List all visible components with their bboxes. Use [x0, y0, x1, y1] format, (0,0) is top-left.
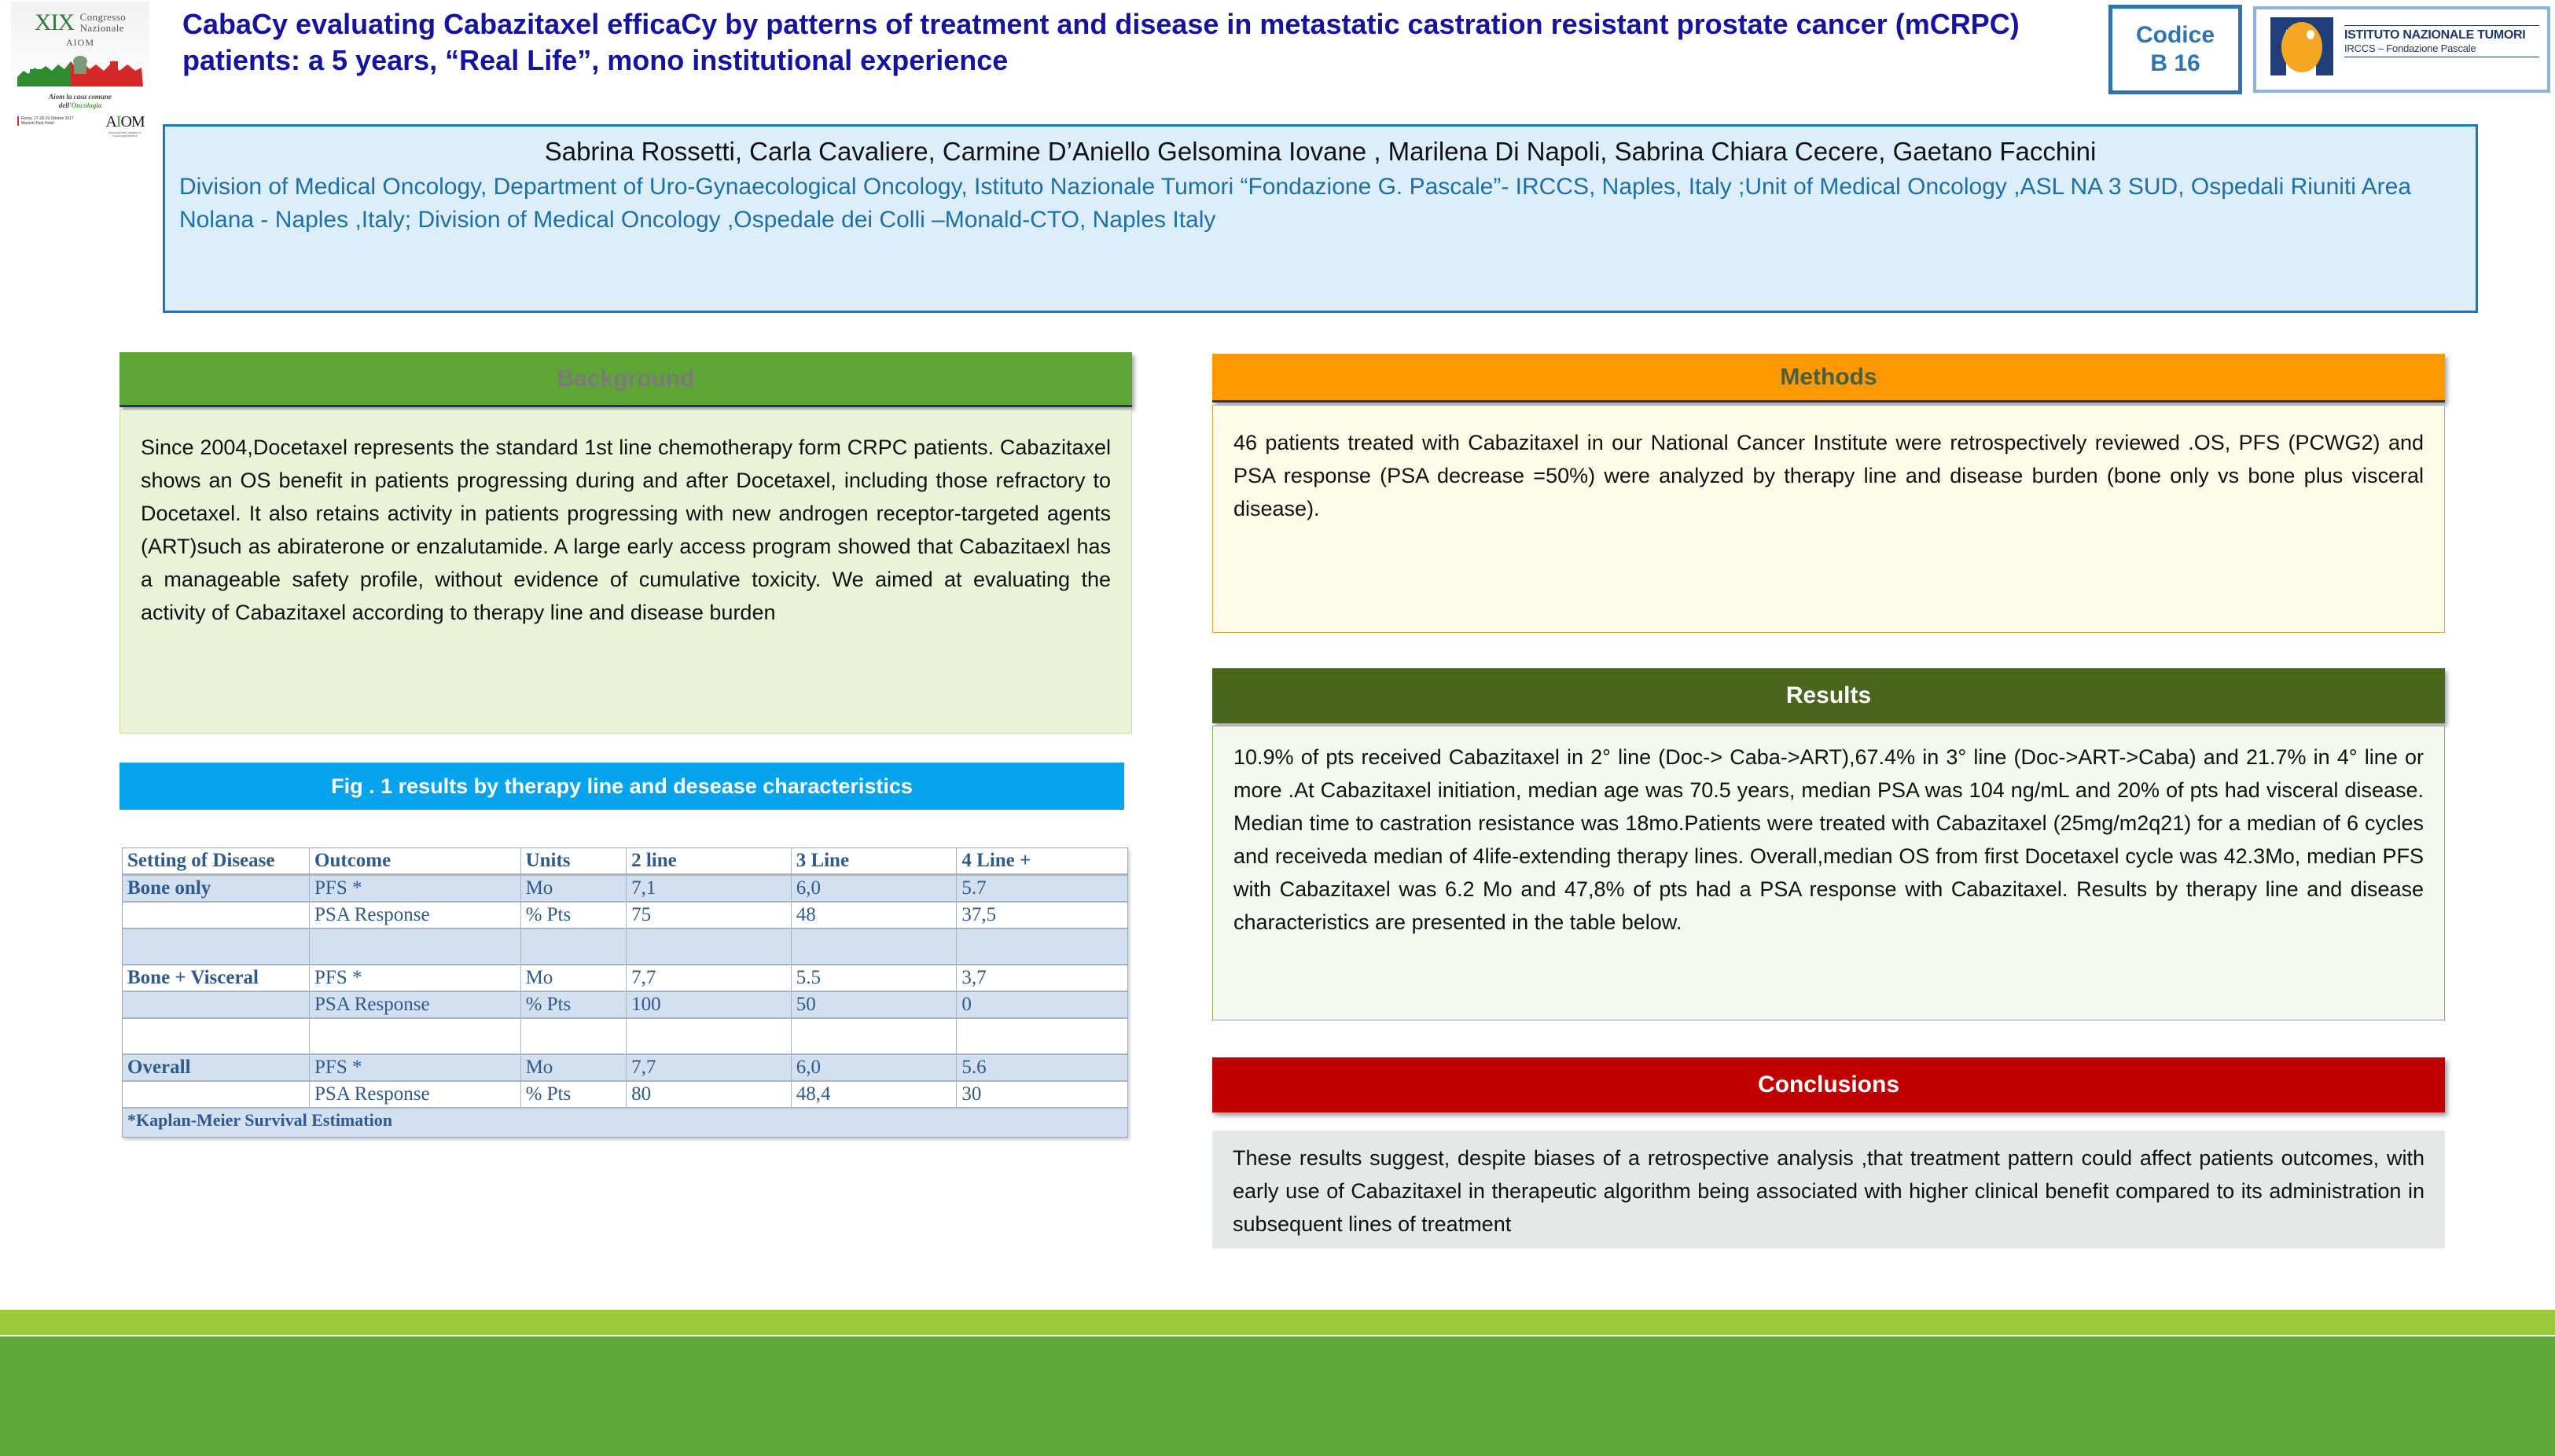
table-row: PSA Response% Pts100500: [123, 992, 1127, 1019]
affiliation-list: Division of Medical Oncology, Department…: [179, 171, 2461, 237]
aiom-tagline-line1: Aiom la casa comune: [11, 93, 149, 101]
table-header-cell: Units: [521, 848, 627, 876]
figure-caption-bar: Fig . 1 results by therapy line and dese…: [119, 763, 1124, 810]
table-cell: 37,5: [957, 903, 1127, 929]
codice-label: Codice: [2136, 21, 2215, 50]
table-cell: [521, 929, 627, 965]
codice-badge: Codice B 16: [2108, 5, 2242, 94]
table-cell: [627, 1019, 792, 1055]
figure-caption-text: Fig . 1 results by therapy line and dese…: [331, 774, 913, 799]
table-row: PSA Response% Pts8048,430: [123, 1082, 1127, 1109]
aiom-tagline: Aiom la casa comune dell'Oncologia: [11, 93, 149, 110]
section-body-results: 10.9% of pts received Cabazitaxel in 2° …: [1212, 726, 2445, 1020]
table-header-cell: Outcome: [310, 848, 521, 876]
section-header-conclusions: Conclusions: [1212, 1057, 2445, 1112]
table-spacer-row: [123, 1019, 1127, 1055]
results-table: Setting of DiseaseOutcomeUnits2 line3 Li…: [122, 847, 1128, 1138]
table-cell: 75: [627, 903, 792, 929]
table-cell: [310, 1019, 521, 1055]
section-body-conclusions: These results suggest, despite biases of…: [1212, 1131, 2445, 1248]
table-spacer-row: [123, 929, 1127, 965]
aiom-line-aiom: AIOM: [11, 37, 149, 49]
page-title: CabaCy evaluating Cabazitaxel efficaCy b…: [182, 6, 2069, 79]
aiom-congress-logo: XIX Congresso Nazionale AIOM Aiom la cas…: [11, 2, 149, 178]
aiom-mark-subtitle: Associazione Italiana di Oncologia Medic…: [104, 131, 146, 138]
table-footnote-row: *Kaplan-Meier Survival Estimation: [123, 1109, 1127, 1137]
poster-header: XIX Congresso Nazionale AIOM Aiom la cas…: [0, 0, 2555, 118]
section-title-methods: Methods: [1780, 364, 1877, 391]
table-cell: 3,7: [957, 965, 1127, 992]
table-cell: 80: [627, 1082, 792, 1109]
aiom-association-mark: AIOM Associazione Italiana di Oncologia …: [104, 113, 146, 138]
aiom-line-congresso: Congresso: [80, 12, 127, 23]
table-cell: 5.6: [957, 1055, 1127, 1082]
table-cell: Overall: [123, 1055, 310, 1082]
table-cell: [123, 1019, 310, 1055]
table-cell: [792, 1019, 958, 1055]
section-header-background: Background: [119, 352, 1132, 407]
table-cell: 48,4: [792, 1082, 958, 1109]
footer-band-lime: [0, 1310, 2555, 1335]
table-cell: Mo: [521, 965, 627, 992]
table-cell: Bone + Visceral: [123, 965, 310, 992]
table-cell: [123, 1082, 310, 1109]
table-cell: [310, 929, 521, 965]
section-body-background: Since 2004,Docetaxel represents the stan…: [119, 410, 1132, 734]
table-cell: PFS *: [310, 876, 521, 903]
table-cell: % Pts: [521, 903, 627, 929]
footer-band-green: [0, 1337, 2555, 1456]
pascale-line-2: IRCCS – Fondazione Pascale: [2344, 42, 2539, 57]
section-header-methods: Methods: [1212, 354, 2445, 403]
table-row: Bone onlyPFS *Mo7,16,05.7: [123, 876, 1127, 903]
table-header-cell: Setting of Disease: [123, 848, 310, 876]
table-cell: % Pts: [521, 992, 627, 1019]
codice-value: B 16: [2150, 50, 2200, 78]
istituto-nazionale-tumori-logo: ISTITUTO NAZIONALE TUMORI IRCCS – Fondaz…: [2253, 6, 2550, 93]
table-footnote: *Kaplan-Meier Survival Estimation: [123, 1109, 1127, 1137]
section-title-background: Background: [557, 366, 694, 392]
table-cell: PFS *: [310, 1055, 521, 1082]
table-cell: 6,0: [792, 876, 958, 903]
table-cell: [957, 929, 1127, 965]
aiom-event-details: Roma, 27-28-29 Ottobre 2017 Marriott Par…: [17, 116, 108, 126]
section-title-results: Results: [1786, 682, 1871, 709]
table-cell: % Pts: [521, 1082, 627, 1109]
table-cell: PSA Response: [310, 1082, 521, 1109]
aiom-wordmark: XIX Congresso Nazionale AIOM: [11, 9, 149, 49]
table-cell: [627, 929, 792, 965]
pascale-line-1: ISTITUTO NAZIONALE TUMORI: [2344, 25, 2539, 42]
table-cell: PSA Response: [310, 903, 521, 929]
table-cell: Mo: [521, 1055, 627, 1082]
table-cell: 5.7: [957, 876, 1127, 903]
table-cell: [123, 929, 310, 965]
section-body-methods: 46 patients treated with Cabazitaxel in …: [1212, 405, 2445, 633]
pascale-emblem-icon: [2266, 14, 2338, 79]
table-cell: [792, 929, 958, 965]
table-cell: 7,7: [627, 965, 792, 992]
aiom-line-nazionale: Nazionale: [80, 23, 127, 34]
table-cell: PSA Response: [310, 992, 521, 1019]
authors-affiliations-box: Sabrina Rossetti, Carla Cavaliere, Carmi…: [163, 124, 2478, 313]
rome-skyline-icon: [16, 50, 145, 88]
aiom-event-venue: Marriott Park Hotel: [21, 121, 108, 126]
table-header-row: Setting of DiseaseOutcomeUnits2 line3 Li…: [123, 848, 1127, 876]
table-cell: 50: [792, 992, 958, 1019]
aiom-tagline-line2-plain: dell': [59, 101, 72, 109]
table-cell: Mo: [521, 876, 627, 903]
table-row: OverallPFS *Mo7,76,05.6: [123, 1055, 1127, 1082]
table-header-cell: 4 Line +: [957, 848, 1127, 876]
table-row: PSA Response% Pts754837,5: [123, 903, 1127, 929]
aiom-mark-text: AIOM: [104, 113, 146, 131]
section-header-results: Results: [1212, 668, 2445, 723]
table-header-cell: 2 line: [627, 848, 792, 876]
table-cell: [123, 992, 310, 1019]
table-cell: PFS *: [310, 965, 521, 992]
table-cell: 30: [957, 1082, 1127, 1109]
table-cell: 7,7: [627, 1055, 792, 1082]
table-cell: 6,0: [792, 1055, 958, 1082]
table-cell: 48: [792, 903, 958, 929]
table-cell: [957, 1019, 1127, 1055]
table-header-cell: 3 Line: [792, 848, 958, 876]
pascale-logo-text: ISTITUTO NAZIONALE TUMORI IRCCS – Fondaz…: [2344, 25, 2539, 57]
table-cell: Bone only: [123, 876, 310, 903]
section-title-conclusions: Conclusions: [1758, 1072, 1899, 1098]
table-cell: [521, 1019, 627, 1055]
table-cell: 0: [957, 992, 1127, 1019]
table-cell: 100: [627, 992, 792, 1019]
table-cell: [123, 903, 310, 929]
author-list: Sabrina Rossetti, Carla Cavaliere, Carmi…: [179, 134, 2461, 169]
aiom-roman-numeral: XIX: [35, 9, 74, 36]
table-row: Bone + VisceralPFS *Mo7,75.53,7: [123, 965, 1127, 992]
table-cell: 5.5: [792, 965, 958, 992]
table-cell: 7,1: [627, 876, 792, 903]
aiom-tagline-line2-accent: Oncologia: [72, 101, 102, 109]
